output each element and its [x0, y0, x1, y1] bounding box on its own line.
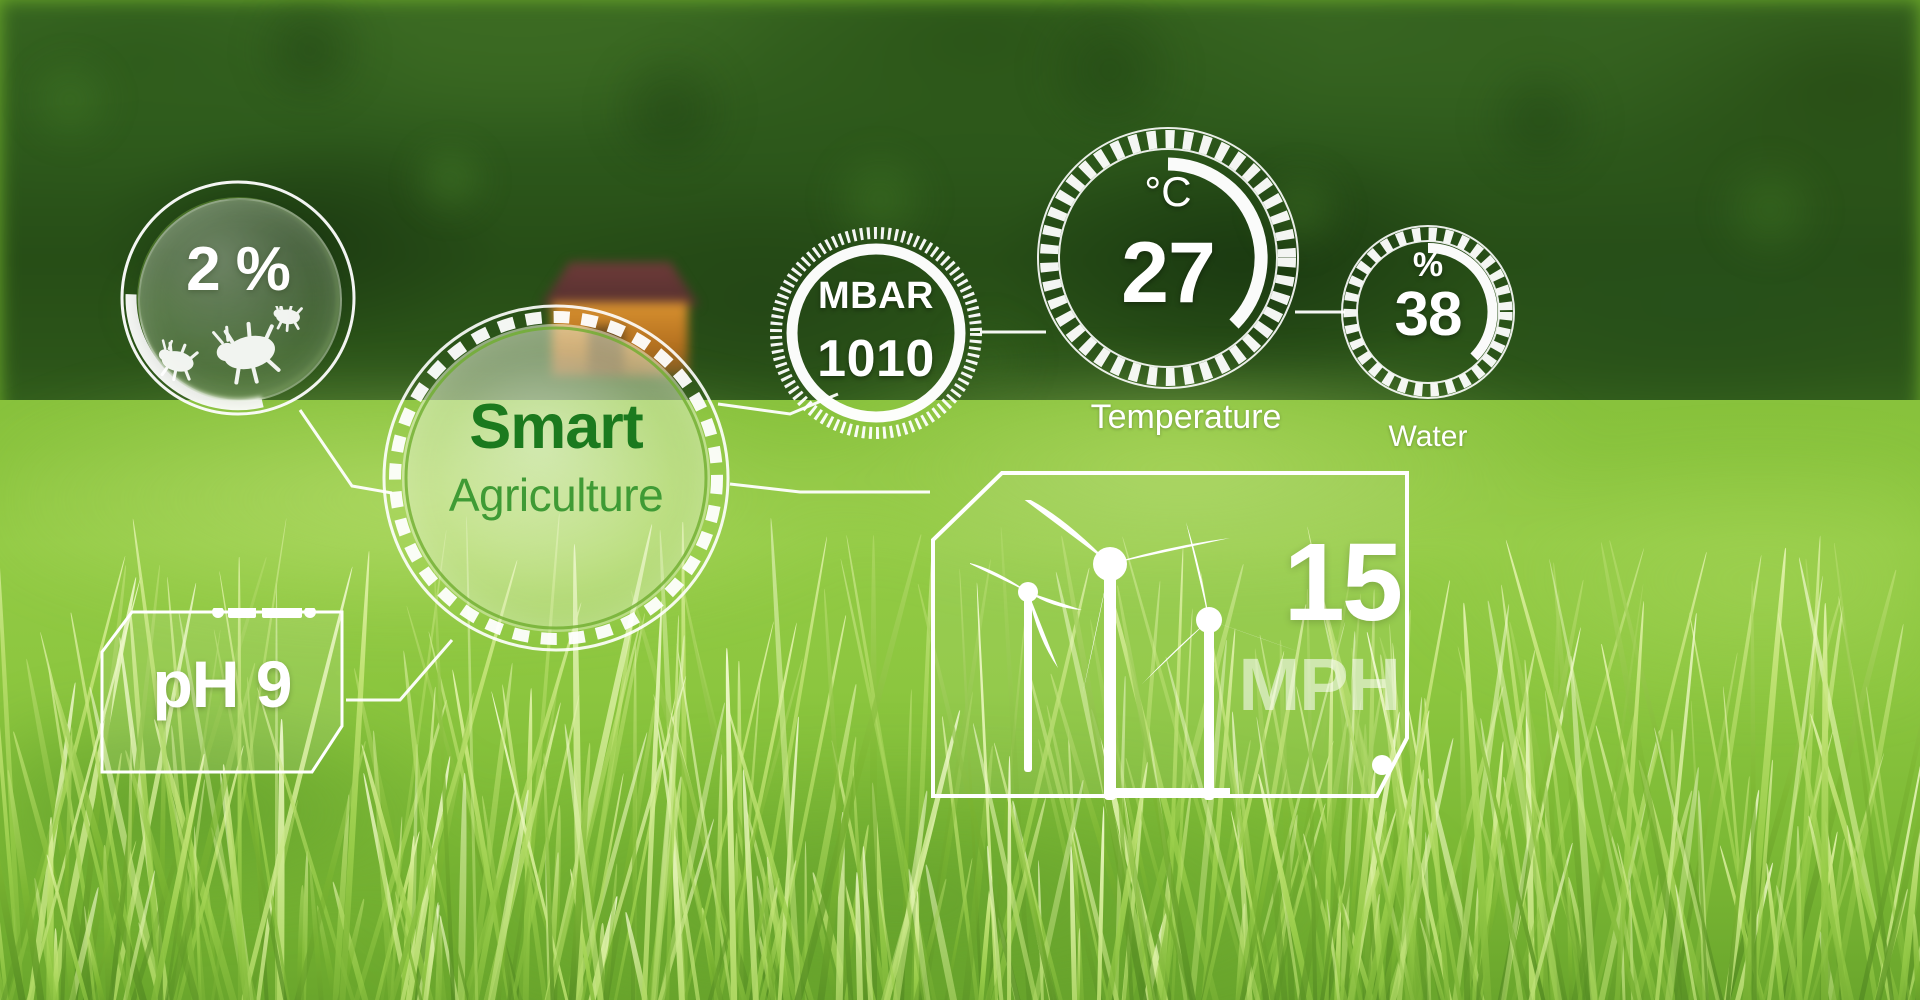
badge-title: Smart — [378, 396, 734, 459]
pressure-gauge-unit: MBAR — [768, 275, 984, 318]
pest-gauge-value: 2 % — [118, 234, 358, 305]
temperature-gauge-value: 27 — [1032, 230, 1304, 316]
wind-panel[interactable]: 15 MPH — [930, 470, 1410, 800]
pressure-gauge-value: 1010 — [768, 329, 984, 389]
pressure-gauge[interactable]: MBAR 1010 — [768, 225, 984, 441]
badge-subtitle: Agriculture — [378, 472, 734, 518]
ph-panel[interactable]: pH 9 — [98, 608, 346, 776]
temperature-gauge[interactable]: °C 27 — [1032, 122, 1304, 394]
insects-icon — [158, 306, 328, 394]
smart-agriculture-badge[interactable]: Smart Agriculture — [378, 300, 734, 656]
wind-panel-unit: MPH — [1170, 648, 1400, 722]
water-gauge-value: 38 — [1338, 284, 1518, 346]
ph-panel-value: pH 9 — [98, 646, 346, 722]
smart-agriculture-infographic: 2 % — [0, 0, 1920, 1000]
water-gauge[interactable]: % 38 — [1338, 222, 1518, 402]
wind-panel-value: 15 — [1220, 528, 1400, 638]
pest-gauge[interactable]: 2 % — [118, 178, 358, 418]
water-gauge-label: Water — [1338, 420, 1518, 454]
hud-overlay: 2 % — [0, 0, 1920, 1000]
temperature-gauge-unit: °C — [1032, 168, 1304, 216]
temperature-gauge-label: Temperature — [1050, 398, 1322, 437]
